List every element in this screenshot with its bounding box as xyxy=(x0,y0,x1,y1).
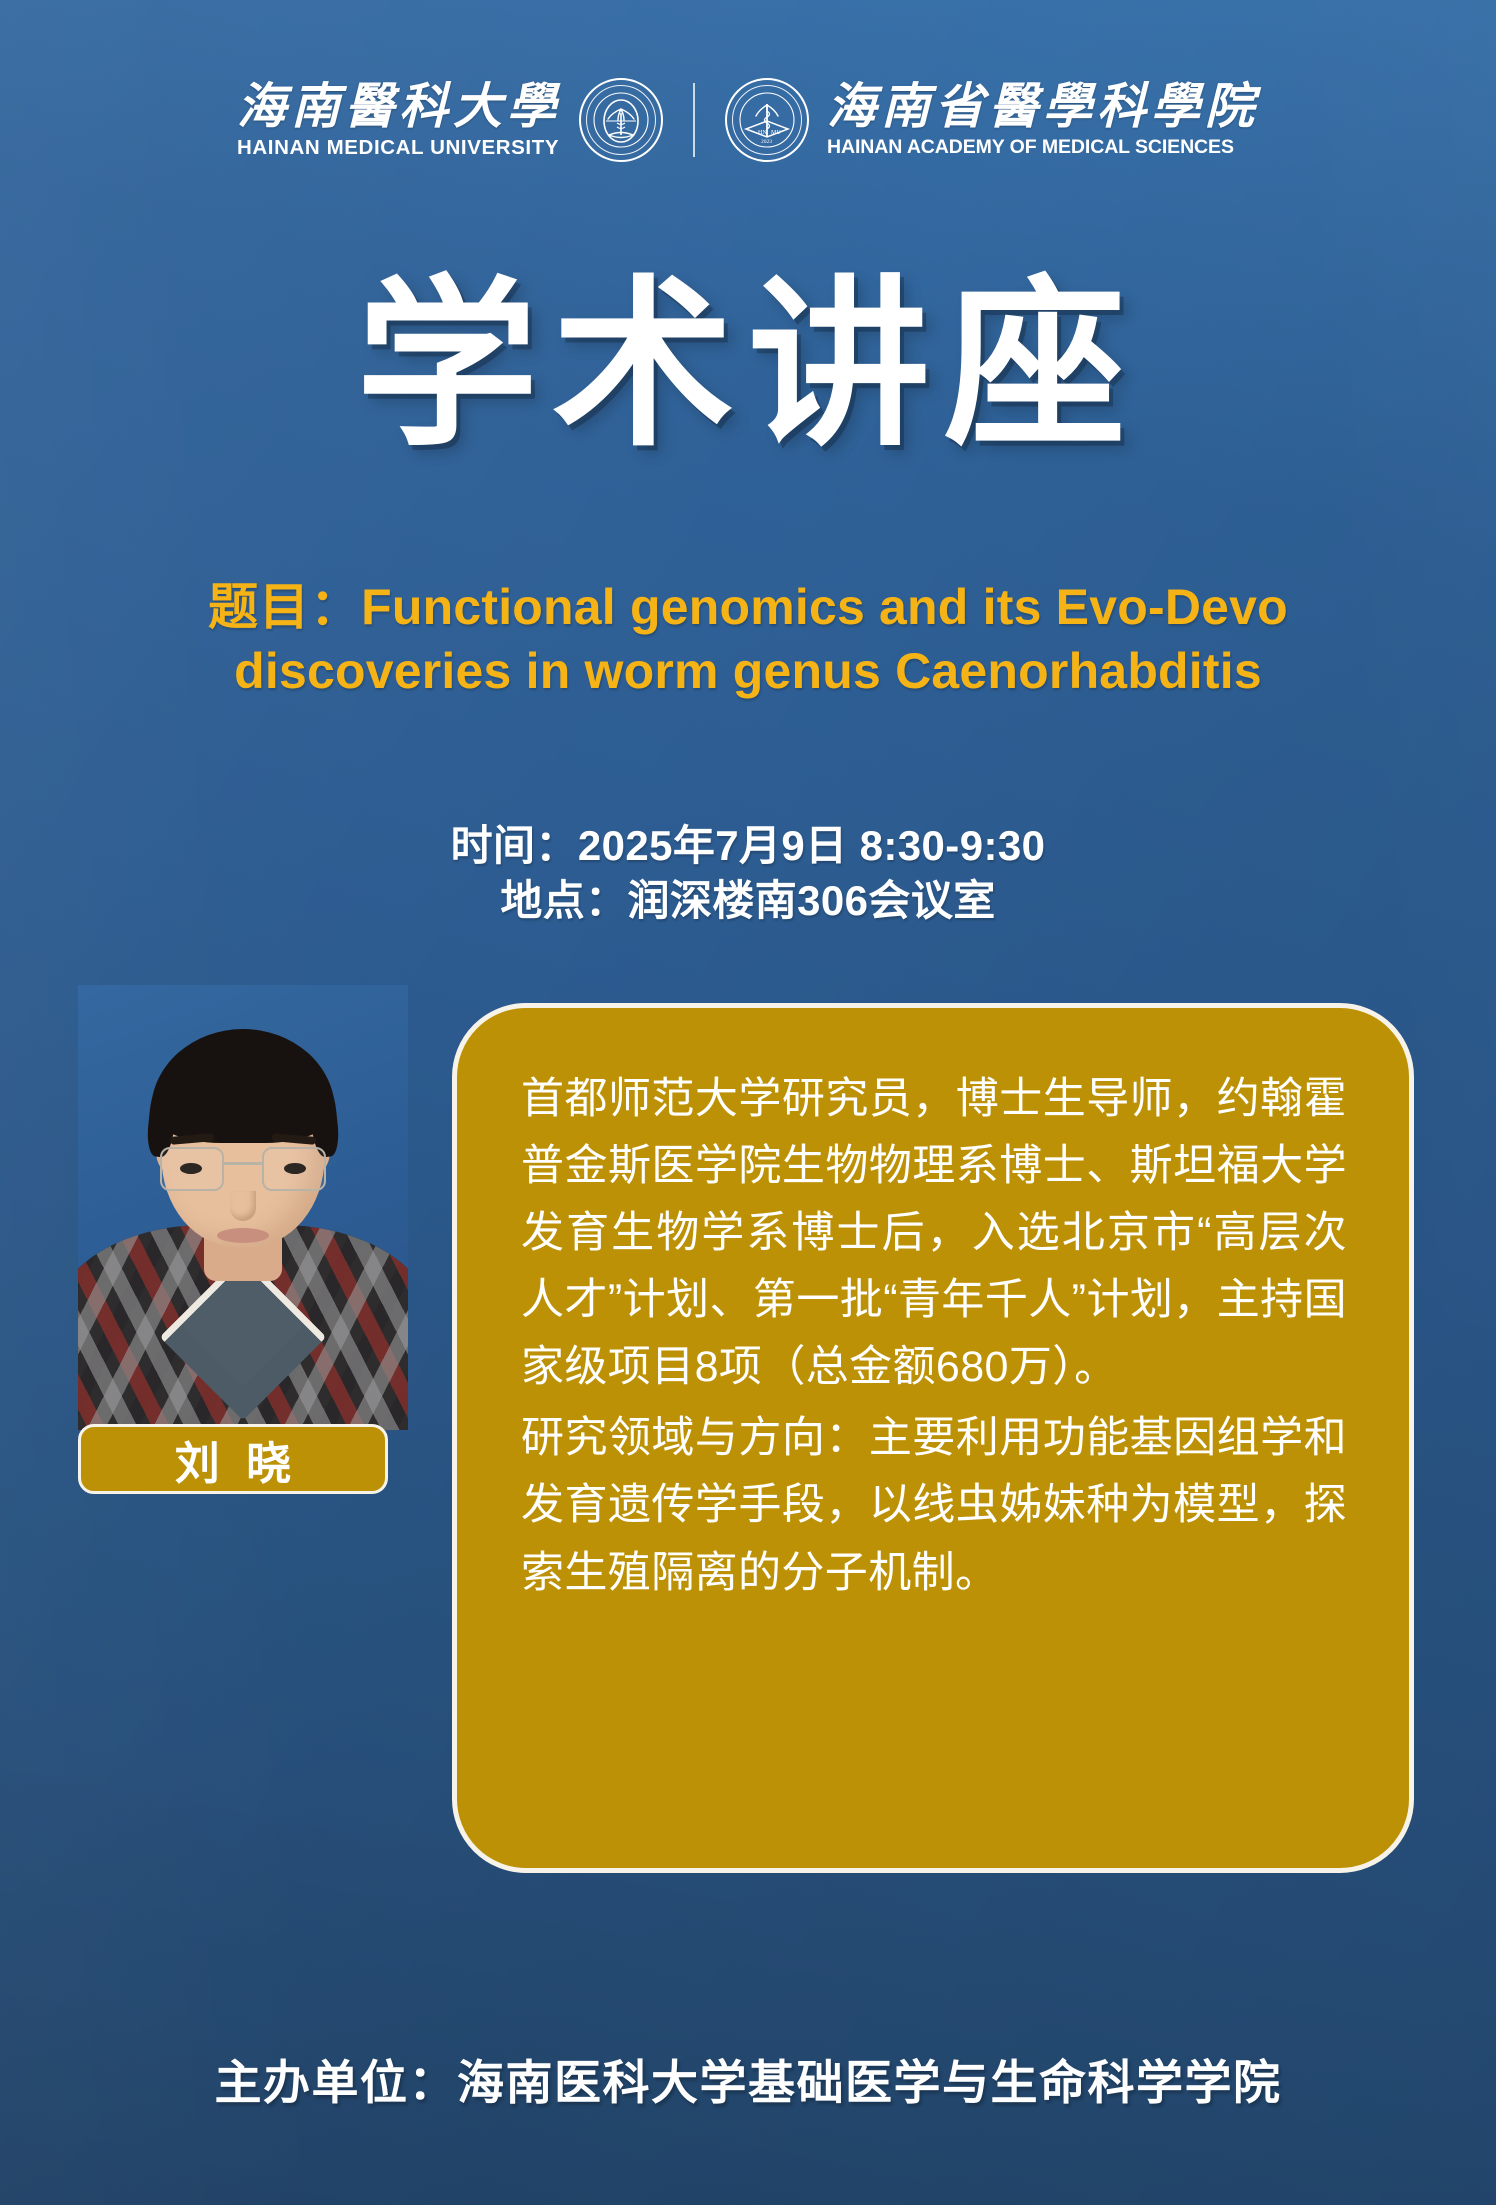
poster-main-title: 学术讲座 xyxy=(0,274,1496,456)
speaker-bio-box: 首都师范大学研究员，博士生导师，约翰霍普金斯医学院生物物理系博士、斯坦福大学发育… xyxy=(452,1003,1414,1873)
university-seal-icon xyxy=(579,78,663,162)
lecture-topic: 题目：Functional genomics and its Evo-Devo … xyxy=(132,575,1364,703)
right-organization-wordmark: 海南省醫學科學院 HAINAN ACADEMY OF MEDICAL SCIEN… xyxy=(827,82,1259,158)
topic-title-text: Functional genomics and its Evo-Devo dis… xyxy=(234,579,1288,699)
lecture-meta: 时间：2025年7月9日 8:30-9:30 地点：润深楼南306会议室 xyxy=(0,818,1496,929)
right-organization-logo: HN MU 2023 海南省醫學科學院 HAINAN ACADEMY OF ME… xyxy=(725,78,1259,162)
speaker-portrait-photo xyxy=(78,985,408,1430)
svg-text:2023: 2023 xyxy=(761,139,772,145)
left-organization-wordmark: 海南醫科大學 HAINAN MEDICAL UNIVERSITY xyxy=(237,82,561,159)
portrait-nose xyxy=(230,1191,256,1221)
organizer-footer: 主办单位：海南医科大学基础医学与生命科学学院 xyxy=(0,2044,1496,2113)
lecture-place: 地点：润深楼南306会议室 xyxy=(0,873,1496,928)
lecture-time: 时间：2025年7月9日 8:30-9:30 xyxy=(0,818,1496,873)
portrait-glasses xyxy=(158,1147,328,1195)
academy-seal-icon: HN MU 2023 xyxy=(725,78,809,162)
right-organization-name-cn: 海南省醫學科學院 xyxy=(827,82,1259,131)
speaker-bio-paragraph: 首都师范大学研究员，博士生导师，约翰霍普金斯医学院生物物理系博士、斯坦福大学发育… xyxy=(521,1066,1347,1401)
left-organization-name-cn: 海南醫科大學 xyxy=(237,82,561,131)
lecture-poster: 海南醫科大學 HAINAN MEDICAL UNIVERSITY xyxy=(0,0,1496,2205)
svg-text:MU: MU xyxy=(771,130,781,136)
header-divider-icon xyxy=(693,83,695,157)
portrait-mouth xyxy=(217,1228,269,1243)
left-organization-logo: 海南醫科大學 HAINAN MEDICAL UNIVERSITY xyxy=(237,78,663,162)
speaker-bio-paragraph: 研究领域与方向：主要利用功能基因组学和发育遗传学手段，以线虫姊妹种为模型，探索生… xyxy=(521,1405,1347,1606)
right-organization-name-en: HAINAN ACADEMY OF MEDICAL SCIENCES xyxy=(827,138,1234,158)
speaker-name-badge: 刘 晓 xyxy=(78,1424,388,1494)
svg-text:HN: HN xyxy=(758,130,767,136)
header-logo-bar: 海南醫科大學 HAINAN MEDICAL UNIVERSITY xyxy=(0,78,1496,162)
left-organization-name-en: HAINAN MEDICAL UNIVERSITY xyxy=(237,138,559,159)
topic-label: 题目： xyxy=(208,579,361,635)
